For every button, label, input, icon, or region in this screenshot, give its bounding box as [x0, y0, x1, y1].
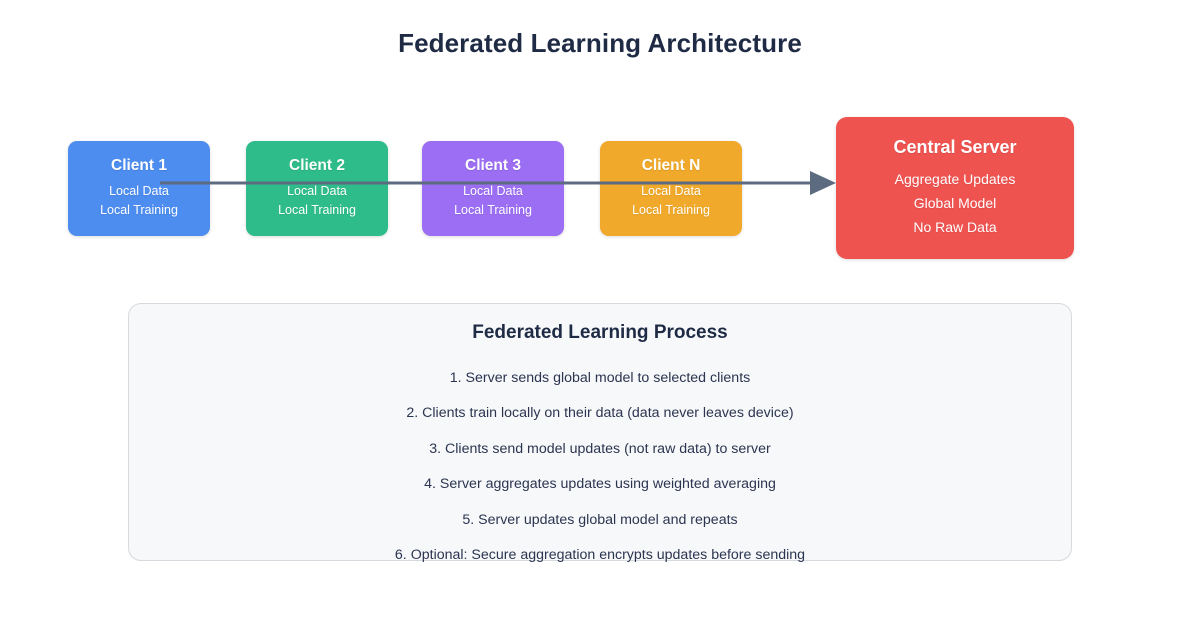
- process-step-6: 6. Optional: Secure aggregation encrypts…: [129, 538, 1071, 574]
- client-node-title: Client 1: [111, 157, 167, 175]
- client-node-local-data: Local Data: [641, 182, 701, 201]
- central-server-node[interactable]: Central Server Aggregate Updates Global …: [836, 117, 1074, 259]
- server-node-no-raw-data: No Raw Data: [913, 215, 996, 239]
- process-step-4: 4. Server aggregates updates using weigh…: [129, 467, 1071, 503]
- architecture-flow-row: Client 1 Local Data Local Training Clien…: [0, 105, 1200, 265]
- client-node-3[interactable]: Client 3 Local Data Local Training: [422, 141, 564, 236]
- page-title: Federated Learning Architecture: [0, 28, 1200, 59]
- client-node-local-data: Local Data: [287, 182, 347, 201]
- process-step-2: 2. Clients train locally on their data (…: [129, 396, 1071, 432]
- process-step-3: 3. Clients send model updates (not raw d…: [129, 431, 1071, 467]
- client-node-title: Client 2: [289, 157, 345, 175]
- server-node-global-model: Global Model: [914, 191, 997, 215]
- client-node-local-data: Local Data: [109, 182, 169, 201]
- client-node-local-training: Local Training: [278, 201, 356, 220]
- process-step-list: 1. Server sends global model to selected…: [129, 360, 1071, 574]
- client-node-title: Client N: [642, 157, 701, 175]
- client-node-local-training: Local Training: [632, 201, 710, 220]
- process-panel-title: Federated Learning Process: [129, 322, 1071, 344]
- client-node-2[interactable]: Client 2 Local Data Local Training: [246, 141, 388, 236]
- client-node-n[interactable]: Client N Local Data Local Training: [600, 141, 742, 236]
- client-node-1[interactable]: Client 1 Local Data Local Training: [68, 141, 210, 236]
- process-step-1: 1. Server sends global model to selected…: [129, 360, 1071, 396]
- process-step-5: 5. Server updates global model and repea…: [129, 502, 1071, 538]
- diagram-canvas: Federated Learning Architecture Client 1…: [0, 0, 1200, 630]
- process-panel: Federated Learning Process 1. Server sen…: [128, 303, 1072, 561]
- server-node-aggregate-updates: Aggregate Updates: [895, 167, 1016, 191]
- client-node-local-data: Local Data: [463, 182, 523, 201]
- client-node-title: Client 3: [465, 157, 521, 175]
- client-node-local-training: Local Training: [454, 201, 532, 220]
- client-node-local-training: Local Training: [100, 201, 178, 220]
- server-node-title: Central Server: [893, 137, 1016, 158]
